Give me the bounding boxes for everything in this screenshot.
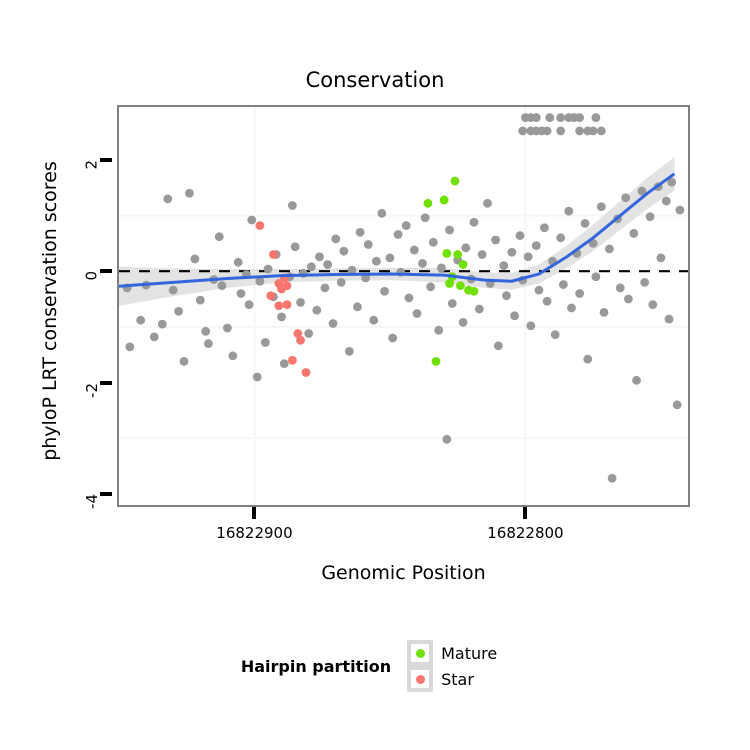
data-point xyxy=(204,339,213,348)
data-point xyxy=(274,301,283,310)
data-point xyxy=(288,356,297,365)
data-point xyxy=(526,321,535,330)
data-point xyxy=(597,127,606,136)
conservation-scatter-figure: Conservation phyloP LRT conservation sco… xyxy=(0,0,750,750)
data-point xyxy=(423,199,432,208)
legend-key xyxy=(407,640,433,666)
legend-label: Mature xyxy=(441,644,497,663)
data-point xyxy=(502,291,511,300)
data-point xyxy=(499,261,508,270)
data-point xyxy=(575,113,584,122)
y-tick-label: 2 xyxy=(83,160,101,170)
data-point xyxy=(201,327,210,336)
data-point xyxy=(264,265,273,274)
data-point xyxy=(345,347,354,356)
y-tick-mark xyxy=(100,381,112,385)
legend-label: Star xyxy=(441,670,474,689)
x-axis-tick: 16822800 xyxy=(525,507,526,508)
data-point xyxy=(394,230,403,239)
data-point xyxy=(518,127,527,136)
x-axis-label: Genomic Position xyxy=(117,562,690,584)
data-point xyxy=(442,249,451,258)
data-point xyxy=(247,216,256,225)
data-point xyxy=(483,199,492,208)
data-point xyxy=(418,259,427,268)
data-point xyxy=(283,300,292,309)
plot-svg xyxy=(119,107,688,505)
data-point xyxy=(673,400,682,409)
data-point xyxy=(648,300,657,309)
data-point xyxy=(605,245,614,254)
data-point xyxy=(624,295,633,304)
y-tick-label: 0 xyxy=(83,271,101,281)
data-point xyxy=(315,252,324,261)
legend-dot-icon xyxy=(416,675,425,684)
data-point xyxy=(331,235,340,244)
data-point xyxy=(675,206,684,215)
data-point xyxy=(629,229,638,238)
y-tick-mark xyxy=(100,158,112,162)
data-point xyxy=(369,316,378,325)
data-point xyxy=(180,357,189,366)
data-point xyxy=(510,311,519,320)
legend-items: MatureStar xyxy=(407,640,509,692)
data-point xyxy=(535,286,544,295)
data-point xyxy=(575,127,584,136)
data-point xyxy=(380,287,389,296)
data-point xyxy=(253,373,262,382)
data-point xyxy=(158,320,167,329)
y-axis-tick: -2 xyxy=(0,383,112,384)
y-axis-tick: 2 xyxy=(0,160,112,161)
data-point xyxy=(269,250,278,259)
data-point xyxy=(261,338,270,347)
data-point xyxy=(564,207,573,216)
data-point xyxy=(429,238,438,247)
data-point xyxy=(125,343,134,352)
data-point xyxy=(445,226,454,235)
data-point xyxy=(218,281,227,290)
data-point xyxy=(646,212,655,221)
data-point xyxy=(597,202,606,211)
data-point xyxy=(215,232,224,241)
legend-dot-icon xyxy=(416,649,425,658)
data-point xyxy=(491,236,500,245)
data-point xyxy=(321,284,330,293)
data-point xyxy=(296,298,305,307)
data-point xyxy=(556,113,565,122)
data-point xyxy=(437,263,446,272)
legend: Hairpin partition MatureStar xyxy=(0,640,750,692)
data-point xyxy=(451,177,460,186)
legend-item-mature[interactable]: Mature xyxy=(407,640,497,666)
data-point xyxy=(540,223,549,232)
data-point xyxy=(223,324,232,333)
data-point xyxy=(190,255,199,264)
data-point xyxy=(136,316,145,325)
x-tick-mark xyxy=(252,507,256,519)
data-point xyxy=(583,355,592,364)
data-point xyxy=(556,127,565,136)
legend-item-star[interactable]: Star xyxy=(407,666,497,692)
data-point xyxy=(245,300,254,309)
data-point xyxy=(665,315,674,324)
data-point xyxy=(543,127,552,136)
data-point xyxy=(364,240,373,249)
data-point xyxy=(461,243,470,252)
data-point xyxy=(662,197,671,206)
data-point xyxy=(432,357,441,366)
data-point xyxy=(559,280,568,289)
data-point xyxy=(410,246,419,255)
data-point xyxy=(632,376,641,385)
data-point xyxy=(421,213,430,222)
data-point xyxy=(434,326,443,335)
data-point xyxy=(280,359,289,368)
data-point xyxy=(277,312,286,321)
data-point xyxy=(608,474,617,483)
y-axis-tick: 0 xyxy=(0,271,112,272)
data-point xyxy=(600,308,609,317)
data-point xyxy=(372,257,381,266)
data-point xyxy=(163,194,172,203)
data-point xyxy=(445,279,454,288)
data-point xyxy=(302,368,311,377)
data-point xyxy=(353,302,362,311)
data-point xyxy=(591,113,600,122)
data-point xyxy=(440,196,449,205)
data-point xyxy=(532,113,541,122)
legend-title: Hairpin partition xyxy=(241,657,391,676)
data-point xyxy=(494,341,503,350)
data-point xyxy=(581,219,590,228)
data-point xyxy=(356,228,365,237)
y-tick-label: -4 xyxy=(83,494,101,509)
data-point xyxy=(266,291,275,300)
data-point xyxy=(591,272,600,281)
data-point xyxy=(470,218,479,227)
data-point xyxy=(621,193,630,202)
data-point xyxy=(575,289,584,298)
data-point xyxy=(234,258,243,267)
data-point xyxy=(196,296,205,305)
data-point xyxy=(516,231,525,240)
data-point xyxy=(323,260,332,269)
data-point xyxy=(545,113,554,122)
data-point xyxy=(478,250,487,259)
y-axis-label: phyloP LRT conservation scores xyxy=(39,101,61,521)
y-axis-tick: -4 xyxy=(0,494,112,495)
x-tick-label: 16822900 xyxy=(184,524,324,542)
data-point xyxy=(551,330,560,339)
data-point xyxy=(470,287,479,296)
data-point xyxy=(174,307,183,316)
data-point xyxy=(312,306,321,315)
x-tick-mark xyxy=(523,507,527,519)
data-point xyxy=(459,318,468,327)
data-point xyxy=(616,284,625,293)
data-point xyxy=(456,281,465,290)
data-point xyxy=(304,329,313,338)
plot-panel xyxy=(117,105,690,507)
data-point xyxy=(475,305,484,314)
data-point xyxy=(657,253,666,262)
data-point xyxy=(532,241,541,250)
data-point xyxy=(296,336,305,345)
y-tick-label: -2 xyxy=(83,383,101,398)
data-point xyxy=(150,332,159,341)
data-point xyxy=(453,250,462,259)
data-point xyxy=(337,278,346,287)
data-point xyxy=(640,278,649,287)
data-point xyxy=(228,351,237,360)
data-point xyxy=(277,285,286,294)
data-point xyxy=(543,297,552,306)
data-point xyxy=(402,221,411,230)
data-point xyxy=(329,319,338,328)
legend-key xyxy=(407,666,433,692)
data-point xyxy=(377,209,386,218)
data-point xyxy=(339,247,348,256)
data-point xyxy=(413,309,422,318)
data-point xyxy=(524,252,533,261)
y-tick-mark xyxy=(100,269,112,273)
data-point xyxy=(185,189,194,198)
data-point xyxy=(426,282,435,291)
data-point xyxy=(386,253,395,262)
data-point xyxy=(589,127,598,136)
data-point xyxy=(237,289,246,298)
x-tick-label: 16822800 xyxy=(455,524,595,542)
page-title: Conservation xyxy=(0,68,750,92)
data-point xyxy=(388,334,397,343)
data-point xyxy=(507,248,516,257)
data-point xyxy=(256,221,265,230)
series-unassigned xyxy=(123,113,685,483)
data-point xyxy=(567,304,576,313)
data-point xyxy=(288,201,297,210)
y-tick-mark xyxy=(100,492,112,496)
data-point xyxy=(405,294,414,303)
data-point xyxy=(442,435,451,444)
plot-area xyxy=(119,107,688,505)
data-point xyxy=(448,299,457,308)
data-point xyxy=(291,242,300,251)
data-point xyxy=(556,233,565,242)
data-point xyxy=(307,262,316,271)
x-axis-tick: 16822900 xyxy=(254,507,255,508)
data-point xyxy=(169,286,178,295)
data-point xyxy=(459,260,468,269)
